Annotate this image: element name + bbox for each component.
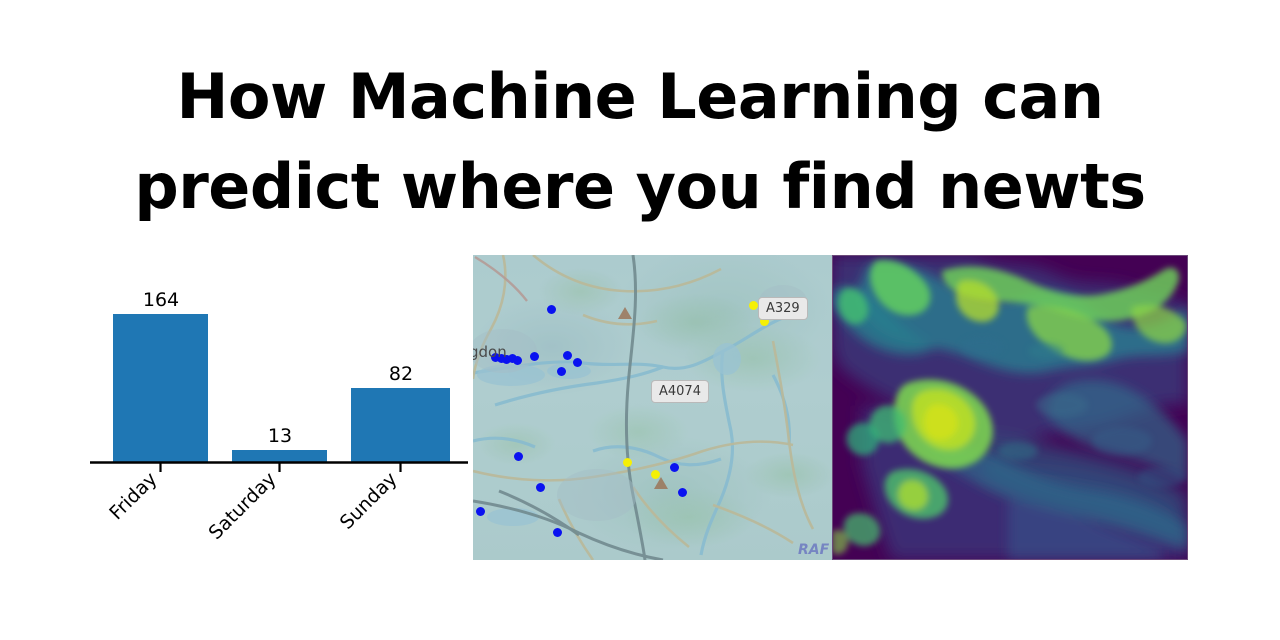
map-point-blue[interactable]: [670, 463, 679, 472]
map-triangle-marker: [618, 307, 632, 319]
x-axis-ticks: [161, 463, 401, 472]
tick-label-saturday: Saturday: [204, 468, 280, 544]
map-point-blue[interactable]: [536, 483, 545, 492]
map-place-label: gdon: [473, 343, 507, 361]
bar-value-saturday: 13: [268, 425, 292, 447]
bar-chart-svg: 164 13 82 Friday Saturday Sunday: [60, 262, 480, 572]
map-road-label-a4074[interactable]: A4074: [651, 380, 709, 403]
map-point-blue[interactable]: [557, 367, 566, 376]
tick-label-friday: Friday: [105, 468, 161, 524]
map-airbase-label: RAF B: [798, 542, 832, 558]
map-point-blue[interactable]: [678, 488, 687, 497]
map-point-blue[interactable]: [513, 356, 522, 365]
elevation-prediction-raster[interactable]: [832, 255, 1188, 560]
tick-label-sunday: Sunday: [336, 468, 402, 534]
map-point-blue[interactable]: [547, 305, 556, 314]
map-point-blue[interactable]: [476, 507, 485, 516]
map-point-yellow[interactable]: [651, 470, 660, 479]
poster-canvas: How Machine Learning can predict where y…: [0, 0, 1280, 640]
map-point-yellow[interactable]: [749, 301, 758, 310]
x-axis-tick-labels: Friday Saturday Sunday: [105, 468, 401, 544]
survey-records-map[interactable]: A329 A4074 gdon RAF B: [473, 255, 832, 560]
page-title: How Machine Learning can predict where y…: [0, 52, 1280, 232]
bar-sunday[interactable]: [351, 388, 450, 462]
map-point-blue[interactable]: [573, 358, 582, 367]
bar-value-friday: 164: [143, 289, 179, 311]
map-point-blue[interactable]: [514, 452, 523, 461]
bar-saturday[interactable]: [232, 450, 327, 462]
map-point-blue[interactable]: [553, 528, 562, 537]
map-road-label-a329[interactable]: A329: [758, 297, 808, 320]
map-point-blue[interactable]: [563, 351, 572, 360]
raster-border: [832, 255, 1188, 560]
bar-chart: 164 13 82 Friday Saturday Sunday: [60, 262, 480, 572]
bar-friday[interactable]: [113, 314, 208, 462]
bar-value-sunday: 82: [389, 363, 413, 385]
page-title-line-1: How Machine Learning can: [0, 52, 1280, 142]
map-point-blue[interactable]: [530, 352, 539, 361]
page-title-line-2: predict where you find newts: [0, 142, 1280, 232]
map-point-yellow[interactable]: [623, 458, 632, 467]
